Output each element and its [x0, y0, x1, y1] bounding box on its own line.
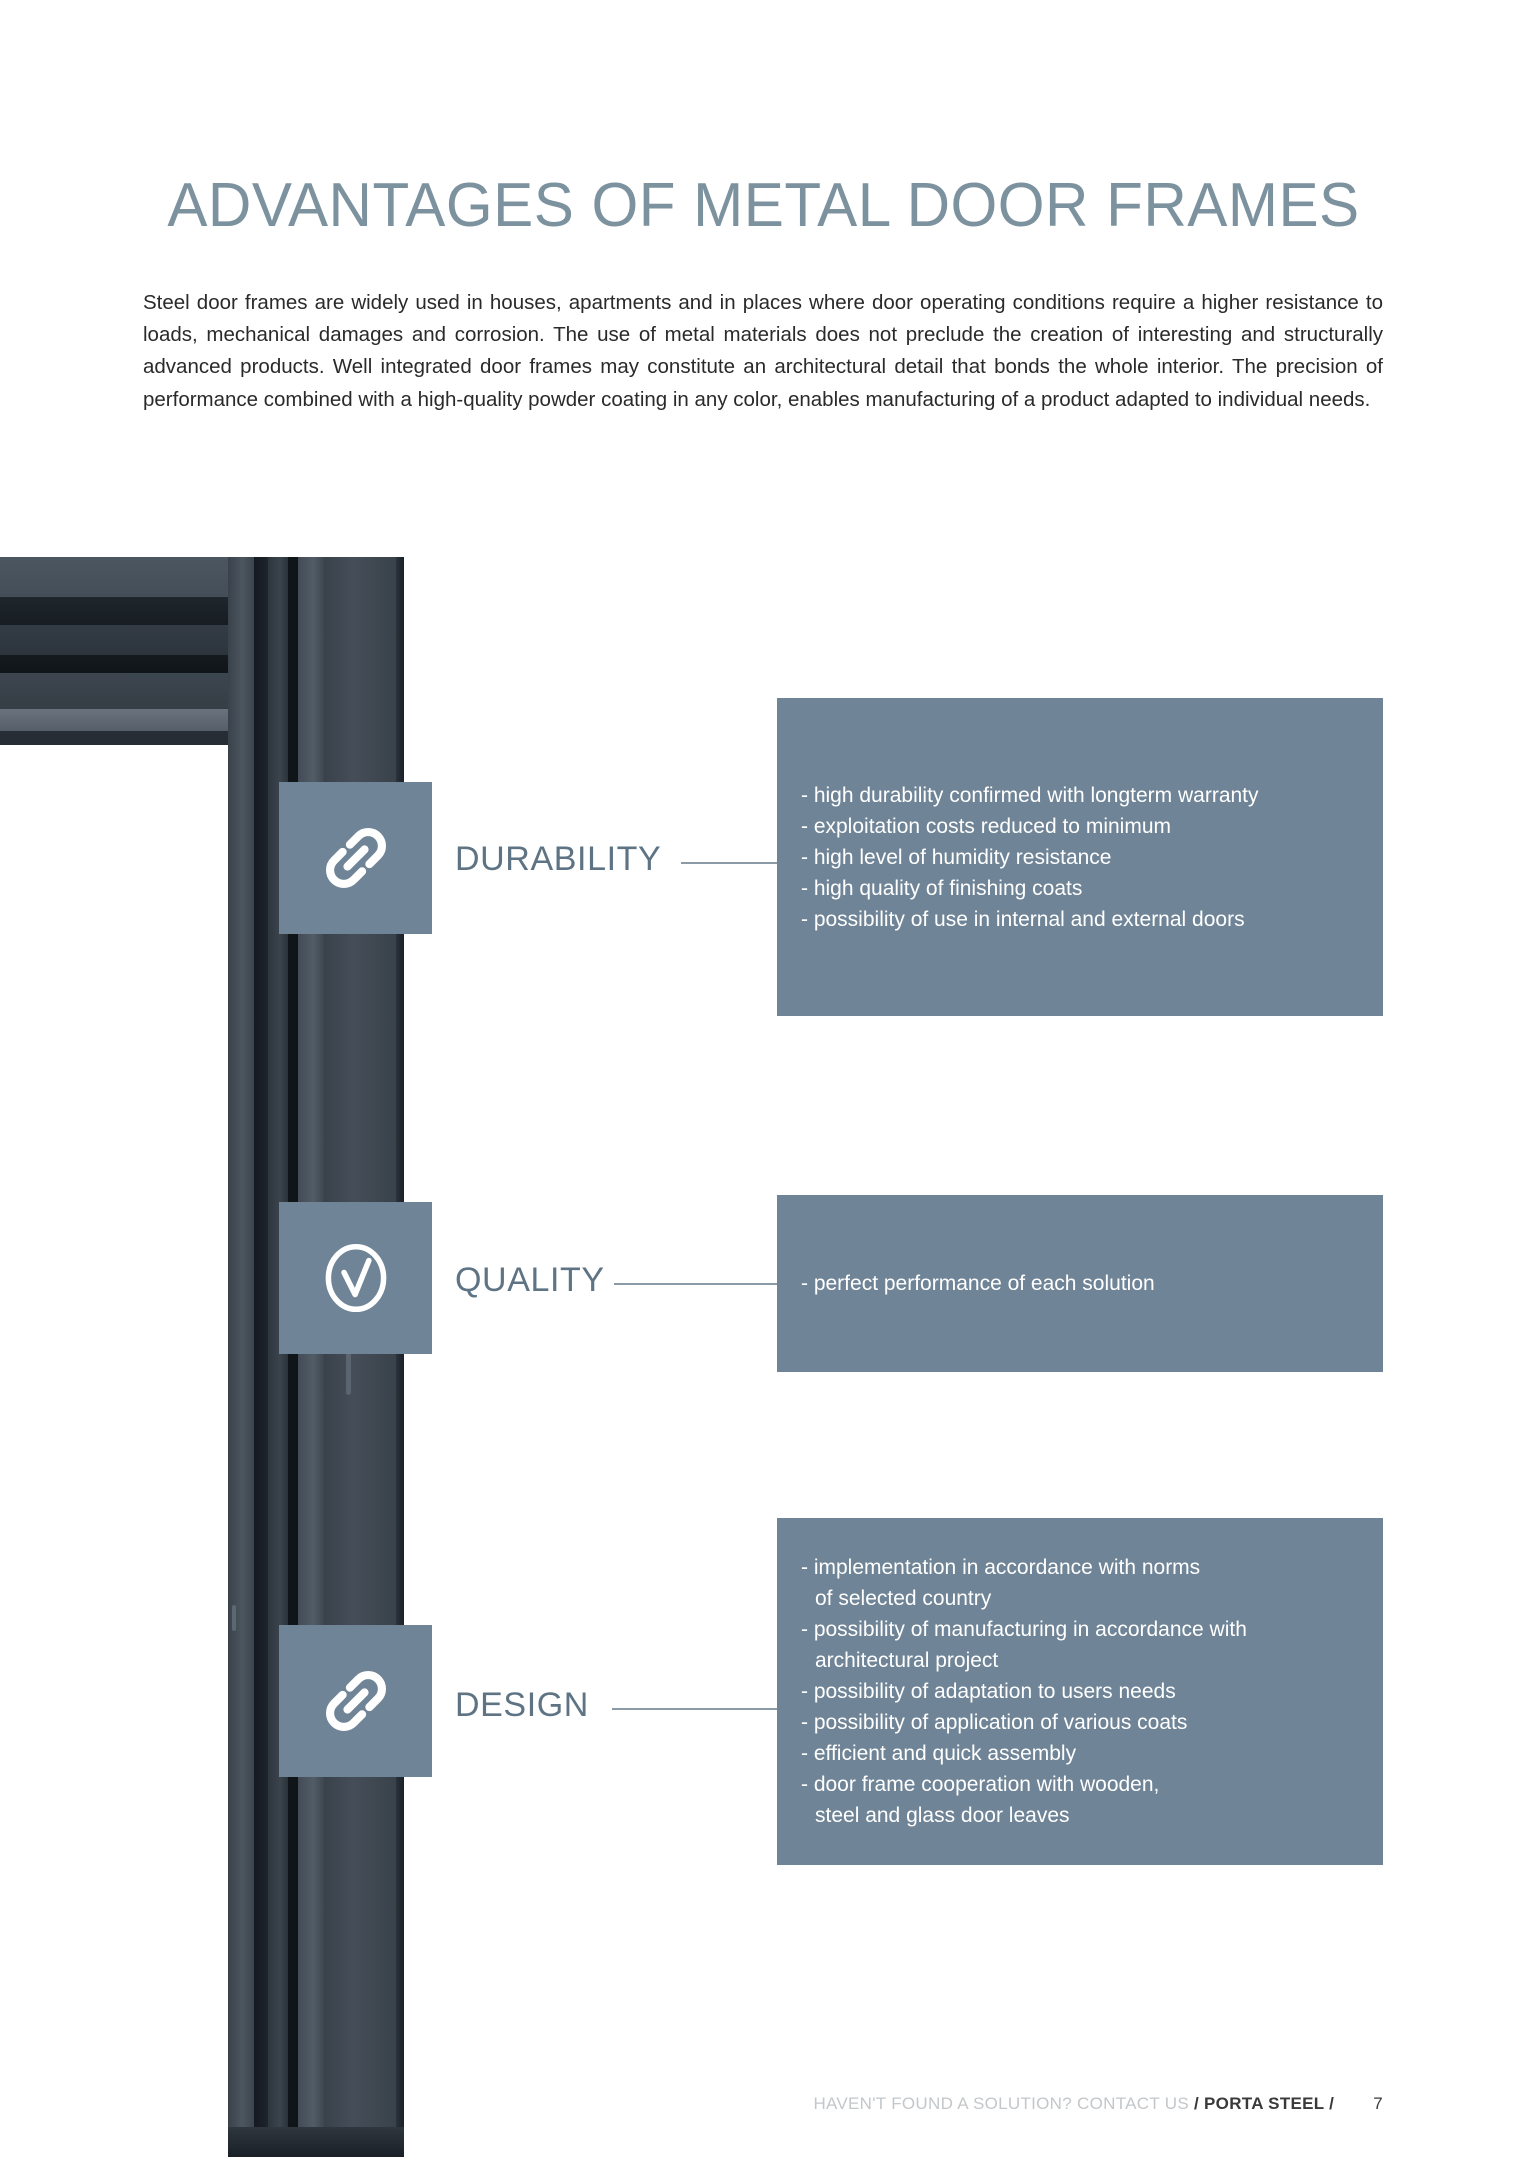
bullet-list-quality: - perfect performance of each solution — [777, 1268, 1383, 1299]
connector-line-quality — [614, 1283, 777, 1285]
list-item: - possibility of adaptation to users nee… — [801, 1676, 1383, 1707]
list-item: - implementation in accordance with norm… — [801, 1552, 1383, 1614]
check-circle-icon — [310, 1232, 402, 1324]
icon-tile-design — [279, 1625, 432, 1777]
chain-link-icon — [313, 815, 399, 901]
intro-paragraph: Steel door frames are widely used in hou… — [143, 287, 1383, 417]
list-item: - efficient and quick assembly — [801, 1738, 1383, 1769]
footer-brand-text: / PORTA STEEL / — [1194, 2094, 1334, 2113]
footer-contact-text: HAVEN'T FOUND A SOLUTION? CONTACT US — [813, 2094, 1189, 2113]
list-item: - perfect performance of each solution — [801, 1268, 1383, 1299]
frame-jamb-band — [228, 557, 254, 2157]
content-box-durability: - high durability confirmed with longter… — [777, 698, 1383, 1016]
list-item: - exploitation costs reduced to minimum — [801, 811, 1383, 842]
section-label-durability: DURABILITY — [455, 840, 661, 879]
frame-jamb-foot — [228, 2127, 404, 2157]
list-item: - possibility of manufacturing in accord… — [801, 1614, 1383, 1676]
list-item: - high quality of finishing coats — [801, 873, 1383, 904]
chain-link-icon — [313, 1658, 399, 1744]
page-footer: HAVEN'T FOUND A SOLUTION? CONTACT US / P… — [0, 2094, 1527, 2114]
section-label-quality: QUALITY — [455, 1261, 605, 1300]
list-item: - possibility of application of various … — [801, 1707, 1383, 1738]
section-label-design: DESIGN — [455, 1686, 589, 1725]
document-page: ADVANTAGES OF METAL DOOR FRAMES Steel do… — [0, 0, 1527, 2160]
list-item: - possibility of use in internal and ext… — [801, 904, 1383, 935]
connector-line-design — [612, 1708, 777, 1710]
footer-page-number: 7 — [1373, 2094, 1383, 2113]
connector-line-durability — [681, 862, 777, 864]
list-item: - high durability confirmed with longter… — [801, 780, 1383, 811]
icon-tile-quality — [279, 1202, 432, 1354]
list-item: - door frame cooperation with wooden, st… — [801, 1769, 1383, 1831]
page-title: ADVANTAGES OF METAL DOOR FRAMES — [23, 170, 1504, 241]
content-box-quality: - perfect performance of each solution — [777, 1195, 1383, 1372]
frame-jamb-band — [254, 557, 268, 2157]
list-item: - high level of humidity resistance — [801, 842, 1383, 873]
icon-tile-durability — [279, 782, 432, 934]
content-box-design: - implementation in accordance with norm… — [777, 1518, 1383, 1865]
frame-jamb-groove — [232, 1605, 236, 1631]
frame-corner-bevel — [0, 709, 232, 731]
bullet-list-design: - implementation in accordance with norm… — [777, 1552, 1383, 1831]
bullet-list-durability: - high durability confirmed with longter… — [777, 780, 1383, 935]
